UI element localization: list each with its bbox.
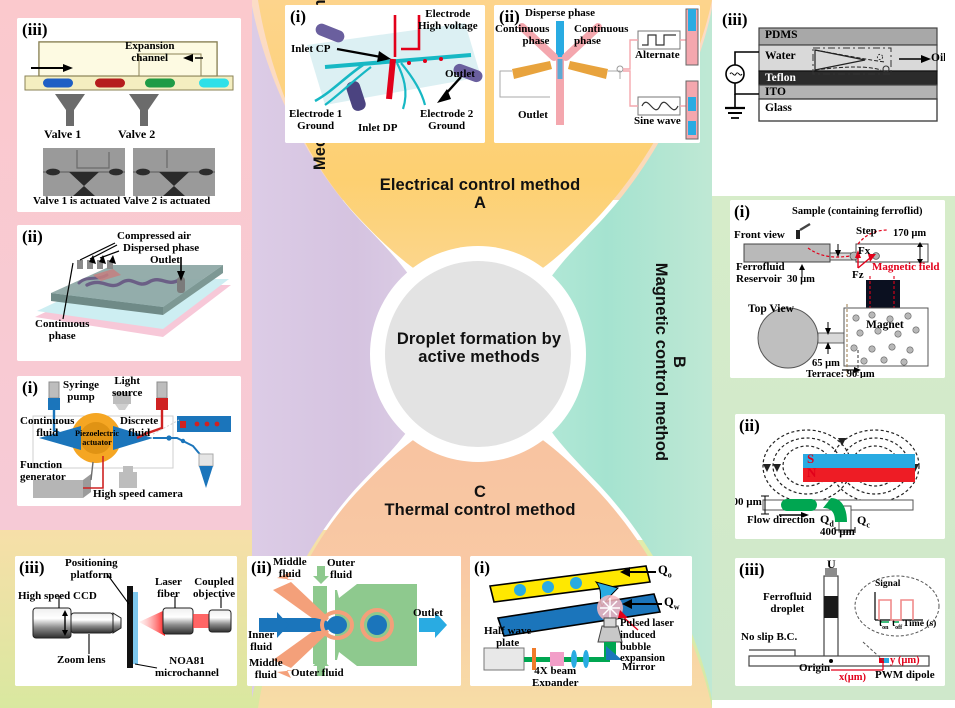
label-outlet-therm-ii: Outlet bbox=[413, 608, 443, 620]
label-inner-fluid: Inner fluid bbox=[248, 630, 274, 653]
label-qc-sub: c bbox=[866, 520, 870, 529]
panel-thermal-iii: (iii) Positioning platform High speed CC… bbox=[15, 556, 237, 686]
label-flow-direction: Flow direction bbox=[747, 515, 815, 527]
center-title: Droplet formation by active methods bbox=[388, 330, 570, 367]
panel-electrical-i: (i) Electrode High voltage Inlet CP Outl… bbox=[285, 5, 485, 143]
label-magnet: Magnet bbox=[866, 319, 904, 331]
label-positioning-platform: Positioning platform bbox=[65, 558, 118, 581]
label-top-view: Top View bbox=[748, 303, 794, 315]
label-compressed-air: Compressed air bbox=[117, 231, 191, 243]
label-terrace: Terrace: 90 µm bbox=[806, 369, 875, 378]
label-disperse-phase: Disperse phase bbox=[525, 8, 595, 20]
panel-tag-magnetic-iii: (iii) bbox=[739, 560, 765, 580]
label-dim-170: 170 µm bbox=[893, 228, 926, 239]
panel-thermal-i: (i) Qo Qw Pulsed laser induced bubble ex… bbox=[470, 556, 692, 686]
label-zoom-lens: Zoom lens bbox=[57, 655, 106, 667]
panel-magnetic-ii: (ii) S N 400 µm Flow direction Qd Qc 400… bbox=[735, 414, 945, 539]
label-outlet-elec-ii: Outlet bbox=[518, 110, 548, 122]
panel-magnetic-iii: (iii) U Ferrofluid droplet No slip B.C. … bbox=[735, 558, 945, 686]
label-pulsed-laser: Pulsed laser induced bubble expansion bbox=[620, 618, 690, 665]
label-qc: Qc bbox=[857, 514, 870, 530]
label-sine-wave: Sine wave bbox=[634, 116, 681, 128]
label-dim-400-bottom: 400 µm bbox=[820, 527, 855, 539]
label-t-off: toff bbox=[892, 620, 902, 631]
label-sample-ferrofluid: Sample (containing ferroflid) bbox=[792, 206, 922, 217]
panel-tag-electrical-iii: (iii) bbox=[722, 10, 748, 30]
center-title-text: Droplet formation by active methods bbox=[397, 330, 561, 366]
panel-tag-thermal-ii: (ii) bbox=[251, 558, 272, 578]
label-expansion-channel: Expansion channel bbox=[125, 41, 175, 64]
label-x-axis: x(µm) bbox=[839, 672, 866, 683]
section-label-thermal: C Thermal control method bbox=[300, 483, 660, 520]
label-continuous-phase-right: Continuous phase bbox=[574, 24, 628, 47]
section-label-electrical-text: Electrical control method bbox=[380, 176, 581, 194]
section-letter-c: C bbox=[300, 483, 660, 501]
label-pwm-dipole: PWM dipole bbox=[875, 670, 935, 682]
label-continuous-phase-mech-ii: Continuous phase bbox=[35, 319, 89, 342]
layer-label-glass: Glass bbox=[765, 102, 792, 114]
label-valve-2: Valve 2 bbox=[118, 128, 155, 141]
label-continuous-fluid: Continuous fluid bbox=[20, 416, 74, 439]
label-discrete-fluid: Discrete fluid bbox=[120, 416, 158, 439]
label-qo-text: Q bbox=[658, 563, 668, 577]
label-outer-fluid-top: Outer fluid bbox=[327, 558, 355, 581]
panel-tag-magnetic-i: (i) bbox=[734, 202, 750, 222]
panel-tag-thermal-i: (i) bbox=[474, 558, 490, 578]
label-outlet-elec-i: Outlet bbox=[445, 69, 475, 81]
panel-tag-mechanical-iii: (iii) bbox=[22, 20, 48, 40]
label-pole-n: N bbox=[807, 466, 816, 480]
label-oil: Oil bbox=[931, 52, 945, 64]
label-dispersed-phase: Dispersed phase bbox=[123, 243, 199, 255]
label-front-view: Front view bbox=[734, 230, 785, 242]
label-qd-text: Q bbox=[820, 512, 829, 526]
section-label-electrical: Electrical control method A bbox=[300, 176, 660, 213]
layer-label-water: Water bbox=[765, 50, 796, 62]
label-fz: Fz bbox=[852, 270, 864, 282]
label-laser-fiber: Laser fiber bbox=[155, 577, 182, 600]
label-qw: Qw bbox=[664, 596, 680, 612]
label-dim-400-left: 400 µm bbox=[735, 497, 762, 509]
layer-label-teflon: Teflon bbox=[765, 72, 796, 84]
section-letter-b: B bbox=[670, 212, 688, 512]
section-label-thermal-text: Thermal control method bbox=[384, 501, 575, 519]
panel-tag-magnetic-ii: (ii) bbox=[739, 416, 760, 436]
label-light-source: Light source bbox=[112, 376, 142, 399]
panel-mechanical-ii: (ii) Compressed air Dispersed phase Outl… bbox=[17, 225, 241, 361]
label-t-on: ton bbox=[879, 620, 889, 631]
label-no-slip-bc: No slip B.C. bbox=[741, 632, 797, 644]
label-valve-1-actuated: Valve 1 is actuated bbox=[33, 196, 120, 208]
label-mirror: Mirror bbox=[622, 662, 655, 674]
label-qw-text: Q bbox=[664, 595, 674, 609]
label-piezoelectric-actuator: Piezoelectric actuator bbox=[74, 430, 120, 447]
label-inlet-cp: Inlet CP bbox=[291, 44, 330, 56]
label-electrode-high-voltage: Electrode High voltage bbox=[418, 9, 478, 32]
section-label-magnetic: B Magnetic control method bbox=[651, 212, 688, 512]
label-valve-2-actuated: Valve 2 is actuated bbox=[123, 196, 210, 208]
label-electrode-2-ground: Electrode 2 Ground bbox=[420, 109, 473, 132]
label-t-on-sub: on bbox=[882, 625, 888, 631]
label-high-speed-ccd: High speed CCD bbox=[18, 591, 97, 603]
layer-label-ito: ITO bbox=[765, 86, 786, 98]
label-y-axis: y (µm) bbox=[890, 655, 920, 666]
label-noa81: NOA81 microchannel bbox=[155, 656, 219, 679]
panel-tag-electrical-i: (i) bbox=[290, 7, 306, 27]
label-half-wave-plate: Half wave plate bbox=[484, 626, 531, 649]
label-alternate: Alternate bbox=[635, 50, 680, 62]
panel-electrical-ii: (ii) Disperse phase Continuous phase Con… bbox=[494, 5, 700, 143]
label-qc-text: Q bbox=[857, 513, 866, 527]
label-electrode-1-ground: Electrode 1 Ground bbox=[289, 109, 342, 132]
label-continuous-phase-left: Continuous phase bbox=[495, 24, 549, 47]
label-u: U bbox=[827, 558, 836, 571]
label-time: Time (s) bbox=[903, 620, 936, 630]
panel-electrical-iii: (iii) PDMS Water Teflon ITO Glass Oil bbox=[717, 8, 945, 138]
label-middle-fluid-bottom: Middle fluid bbox=[249, 658, 283, 681]
label-outer-fluid-bottom: Outer fluid bbox=[291, 668, 344, 680]
panel-thermal-ii: (ii) Middle fluid Outer fluid Inner flui… bbox=[247, 556, 461, 686]
label-qo: Qo bbox=[658, 564, 672, 580]
label-coupled-objective: Coupled objective bbox=[193, 577, 235, 600]
label-t-off-sub: off bbox=[895, 625, 902, 631]
label-qo-sub: o bbox=[668, 571, 672, 580]
panel-magnetic-i: (i) Sample (containing ferroflid) Front … bbox=[730, 200, 945, 378]
label-origin: Origin bbox=[799, 663, 830, 675]
section-label-magnetic-text: Magnetic control method bbox=[652, 263, 670, 461]
layer-label-pdms: PDMS bbox=[765, 29, 798, 41]
label-ferrofluid-droplet: Ferrofluid droplet bbox=[763, 592, 812, 615]
figure-root: Droplet formation by active methods Elec… bbox=[0, 0, 955, 708]
label-function-generator: Function generator bbox=[20, 460, 66, 483]
label-pole-s: S bbox=[807, 452, 814, 466]
panel-tag-mechanical-i: (i) bbox=[22, 378, 38, 398]
label-dim-65: 65 µm bbox=[812, 358, 840, 369]
section-letter-a: A bbox=[300, 194, 660, 212]
label-qw-sub: w bbox=[674, 603, 680, 612]
label-step: Step bbox=[856, 226, 877, 238]
panel-tag-thermal-iii: (iii) bbox=[19, 558, 45, 578]
label-fx: Fx bbox=[858, 246, 870, 258]
panel-tag-mechanical-ii: (ii) bbox=[22, 227, 43, 247]
label-inlet-dp: Inlet DP bbox=[358, 123, 397, 135]
label-signal: Signal bbox=[875, 580, 900, 590]
label-ferrofluid-reservoir: Ferrofluid Reservoir bbox=[736, 262, 785, 285]
panel-mechanical-i: (i) Syringe pump Light source Continuous… bbox=[17, 376, 241, 506]
label-magnetic-field: Magnetic field bbox=[872, 262, 940, 274]
label-valve-1: Valve 1 bbox=[44, 128, 81, 141]
label-middle-fluid-top: Middle fluid bbox=[273, 557, 307, 580]
label-outlet-mech-ii: Outlet bbox=[150, 255, 180, 267]
label-high-speed-camera: High speed camera bbox=[93, 489, 183, 501]
panel-mechanical-iii: (iii) Expansion channel Valve 1 Valve 2 … bbox=[17, 18, 241, 212]
label-dim-30: 30 µm bbox=[787, 274, 815, 285]
label-syringe-pump: Syringe pump bbox=[63, 380, 99, 403]
label-beam-expander: 4X beam Expander bbox=[532, 666, 578, 686]
